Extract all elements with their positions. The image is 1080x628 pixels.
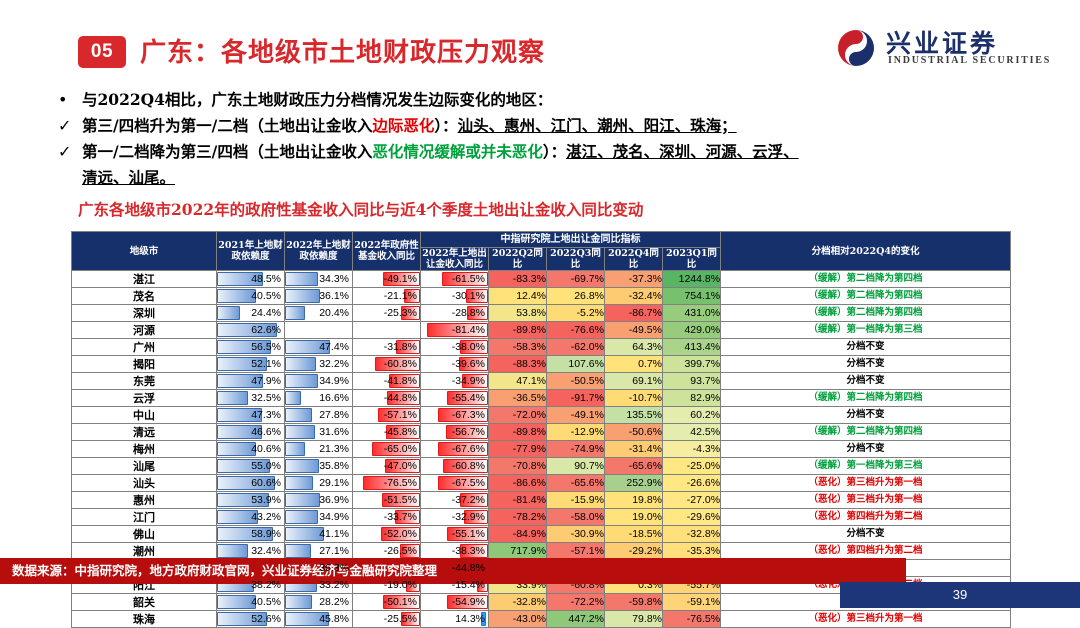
cell-q2: -81.4% [489,492,547,509]
cell-dep2021: 52.1% [217,356,285,373]
cell-q1: 431.0% [663,305,721,322]
cell-dep2021: 43.2% [217,509,285,526]
cell-dep2021: 62.6% [217,322,285,339]
industrial-securities-logo-icon [836,28,876,68]
table-row: 清远46.6%31.6%-45.8%-56.7%-89.8%-12.9%-50.… [72,424,1011,441]
cell-dep2021: 47.3% [217,407,285,424]
cell-city: 汕尾 [72,458,217,475]
cell-q2: -78.2% [489,509,547,526]
cell-q3: -30.9% [547,526,605,543]
cell-city: 珠海 [72,611,217,628]
cell-value: -57.1% [353,407,420,423]
cell-city: 揭阳 [72,356,217,373]
table-row: 江门43.2%34.9%-33.7%-32.9%-78.2%-58.0%19.0… [72,509,1011,526]
cell-value: 60.6% [217,475,284,491]
cell-value: -25.5% [353,611,420,627]
cell-value: -67.5% [421,475,488,491]
page-number: 39 [840,582,1080,608]
cell-q1: 1244.8% [663,271,721,288]
cell-q2: -43.0% [489,611,547,628]
cell-value: 32.2% [285,356,352,372]
cell-dep2021: 47.9% [217,373,285,390]
cell-city: 云浮 [72,390,217,407]
slide-header: 05 广东：各地级市土地财政压力观察 兴业证券 INDUSTRIAL SECUR… [0,0,1080,88]
cell-land2022: -55.1% [421,526,489,543]
cell-q3: -65.6% [547,475,605,492]
table-row: 茂名40.5%36.1%-21.1%-30.1%12.4%26.8%-32.4%… [72,288,1011,305]
cell-dep2022 [285,322,353,339]
cell-value: -37.2% [421,492,488,508]
cell-fund2022: -31.8% [353,339,421,356]
bullet-list: •与2022Q4相比，广东土地财政压力分档情况发生边际变化的地区：✓第三/四档升… [58,88,1058,192]
cell-q2: -88.3% [489,356,547,373]
cell-q3: 447.2% [547,611,605,628]
cell-value: 52.6% [217,611,284,627]
check-icon: ✓ [58,140,82,164]
cell-fund2022: -21.1% [353,288,421,305]
cell-q3: -50.5% [547,373,605,390]
page-title: 广东：各地级市土地财政压力观察 [140,32,545,69]
col-header-q1: 2023Q1同比 [663,248,721,271]
cell-value: -39.6% [421,356,488,372]
cell-value: -41.8% [353,373,420,389]
cell-value: -32.9% [421,509,488,525]
cell-q3: -91.7% [547,390,605,407]
cell-value: 40.5% [217,288,284,304]
cell-dep2021: 60.6% [217,475,285,492]
cell-dep2022: 34.9% [285,373,353,390]
cell-dep2022: 20.4% [285,305,353,322]
cell-land2022: -30.1% [421,288,489,305]
col-header-fund2022: 2022年政府性基金收入同比 [353,232,421,271]
cell-rank-change: （缓解）第二档降为第四档 [721,288,1011,305]
cell-q4: 19.8% [605,492,663,509]
cell-q3: -58.0% [547,509,605,526]
cell-value: -25.3% [353,305,420,321]
cell-value: -49.1% [353,271,420,287]
cell-dep2021: 56.5% [217,339,285,356]
cell-city: 清远 [72,424,217,441]
cell-dep2022: 16.6% [285,390,353,407]
cell-dep2021: 40.5% [217,288,285,305]
table-row: 广州56.5%47.4%-31.8%-38.0%-58.3%-62.0%64.3… [72,339,1011,356]
cell-dep2022: 33.2% [285,577,353,594]
cell-land2022: -55.4% [421,390,489,407]
cell-fund2022: -51.5% [353,492,421,509]
cell-value: -55.1% [421,526,488,542]
cell-value: -67.6% [421,441,488,457]
table-row: 佛山58.9%41.1%-52.0%-55.1%-84.9%-30.9%-18.… [72,526,1011,543]
cell-fund2022: -19.0% [353,577,421,594]
cell-value: -30.1% [421,288,488,304]
cell-city: 佛山 [72,526,217,543]
bullet-text: 与2022Q4相比，广东土地财政压力分档情况发生边际变化的地区： [82,88,552,112]
table-row: 汕头60.6%29.1%-76.5%-67.5%-86.6%-65.6%252.… [72,475,1011,492]
cell-value: -55.4% [421,390,488,406]
cell-q4: -50.6% [605,424,663,441]
cell-dep2021: 48.5% [217,271,285,288]
cell-value: 43.2% [217,509,284,525]
cell-value: -15.4% [421,577,488,593]
cell-rank-change: （恶化）第三档升为第一档 [721,475,1011,492]
cell-city: 中山 [72,407,217,424]
cell-value: 58.9% [217,526,284,542]
cell-value: 52.1% [217,356,284,372]
cell-fund2022: -57.1% [353,407,421,424]
cell-q4: -31.4% [605,441,663,458]
cell-q2: -77.9% [489,441,547,458]
cell-land2022: -67.3% [421,407,489,424]
cell-value: 33.2% [285,577,352,593]
cell-value: 46.6% [217,424,284,440]
cell-q2: -72.0% [489,407,547,424]
cell-land2022: -44.8% [421,560,489,577]
cell-dep2021: 38.2% [217,577,285,594]
cell-q3: -12.9% [547,424,605,441]
cell-rank-change: （缓解）第一档降为第三档 [721,322,1011,339]
cell-land2022: -15.4% [421,577,489,594]
cell-fund2022: -33.7% [353,509,421,526]
cell-rank-change: 分档不变 [721,441,1011,458]
cell-q4: 69.1% [605,373,663,390]
cell-q1: 429.0% [663,322,721,339]
cell-q3: -74.9% [547,441,605,458]
logo-english-text: INDUSTRIAL SECURITIES [888,55,1051,66]
cell-value: -56.7% [421,424,488,440]
cell-rank-change: 分档不变 [721,339,1011,356]
cell-rank-change: （缓解）第一档降为第三档 [721,458,1011,475]
cell-q1: 42.5% [663,424,721,441]
col-header-city: 地级市 [72,232,217,271]
cell-value: 27.1% [285,543,352,559]
cell-value: 45.8% [285,611,352,627]
check-icon: ✓ [58,114,82,138]
cell-land2022: -38.0% [421,339,489,356]
cell-land2022: -81.4% [421,322,489,339]
cell-q3: -76.6% [547,322,605,339]
cell-dep2021: 53.9% [217,492,285,509]
cell-dep2022: 21.3% [285,441,353,458]
cell-land2022: -56.7% [421,424,489,441]
cell-city: 东莞 [72,373,217,390]
cell-value: -34.9% [421,373,488,389]
cell-value: 32.5% [217,390,284,406]
cell-city: 广州 [72,339,217,356]
cell-value: 47.3% [217,407,284,423]
bullet-line: •与2022Q4相比，广东土地财政压力分档情况发生边际变化的地区： [58,88,1058,112]
cell-value: -19.0% [353,577,420,593]
cell-q4: 79.8% [605,611,663,628]
cell-land2022: -67.6% [421,441,489,458]
cell-q1: -27.0% [663,492,721,509]
cell-value: 53.9% [217,492,284,508]
cell-fund2022: -76.5% [353,475,421,492]
cell-dep2021: 40.6% [217,441,285,458]
cell-value: 24.4% [217,305,284,321]
cell-q4: -86.7% [605,305,663,322]
cell-fund2022: -26.5% [353,543,421,560]
cell-fund2022: -52.0% [353,526,421,543]
cell-q2: -86.6% [489,475,547,492]
col-header-group-zhizhi: 中指研究院上地出让金同比指标 [421,232,721,248]
bullet-text: 第三/四档升为第一/二档（土地出让金收入边际恶化）：汕头、惠州、江门、潮州、阳江… [82,114,737,138]
cell-value: -38.3% [421,543,488,559]
cell-rank-change: （缓解）第二档降为第四档 [721,424,1011,441]
cell-q2: 53.8% [489,305,547,322]
cell-dep2022: 27.8% [285,407,353,424]
cell-value: 62.6% [217,322,284,338]
bullet-text: 清远、汕尾。 [82,166,175,190]
cell-value: -61.5% [421,271,488,287]
cell-fund2022: -41.8% [353,373,421,390]
cell-value: 56.5% [217,339,284,355]
cell-q2: -89.8% [489,424,547,441]
cell-value: 29.1% [285,475,352,491]
cell-q2: -84.9% [489,526,547,543]
cell-value: 41.1% [285,526,352,542]
cell-dep2021: 32.4% [217,543,285,560]
cell-value: -44.8% [353,390,420,406]
cell-city: 江门 [72,509,217,526]
cell-value: -52.0% [353,526,420,542]
cell-city: 汕头 [72,475,217,492]
cell-q3: -49.1% [547,407,605,424]
cell-dep2022: 32.2% [285,356,353,373]
cell-q3: -15.9% [547,492,605,509]
col-header-change: 分档相对2022Q4的变化 [721,232,1011,271]
cell-land2022: -32.9% [421,509,489,526]
cell-q4: -49.5% [605,322,663,339]
cell-rank-change: 分档不变 [721,373,1011,390]
cell-dep2021: 24.4% [217,305,285,322]
table-row: 云浮32.5%16.6%-44.8%-55.4%-36.5%-91.7%-10.… [72,390,1011,407]
cell-dep2022: 35.8% [285,458,353,475]
cell-dep2021: 32.5% [217,390,285,407]
bullet-line: 清远、汕尾。 [58,166,1058,190]
cell-city: 湛江 [72,271,217,288]
cell-city: 潮州 [72,543,217,560]
cell-q4: -18.5% [605,526,663,543]
cell-q4: -10.7% [605,390,663,407]
cell-q4: 64.3% [605,339,663,356]
cell-value: 48.5% [217,271,284,287]
cell-q3: -62.0% [547,339,605,356]
cell-value: 20.4% [285,305,352,321]
cell-q2: -89.8% [489,322,547,339]
cell-value: -26.5% [353,543,420,559]
chart-title: 广东各地级市2022年的政府性基金收入同比与近4个季度土地出让金收入同比变动 [78,198,643,220]
table-header-row-top: 地级市 2021年上地财政依赖度 2022年上地财政依赖度 2022年政府性基金… [72,232,1011,248]
cell-city: 茂名 [72,288,217,305]
col-header-dep2021: 2021年上地财政依赖度 [217,232,285,271]
cell-q4: 135.5% [605,407,663,424]
cell-fund2022: -60.8% [353,356,421,373]
cell-value: -31.8% [353,339,420,355]
cell-land2022: -60.8% [421,458,489,475]
table-row: 惠州53.9%36.9%-51.5%-37.2%-81.4%-15.9%19.8… [72,492,1011,509]
table-row: 东莞47.9%34.9%-41.8%-34.9%47.1%-50.5%69.1%… [72,373,1011,390]
cell-fund2022: -25.5% [353,611,421,628]
cell-q4: -29.2% [605,543,663,560]
cell-q1: -26.6% [663,475,721,492]
cell-fund2022: -49.1% [353,271,421,288]
cell-value: 36.9% [285,492,352,508]
cell-q1: 399.7% [663,356,721,373]
cell-dep2021: 58.9% [217,526,285,543]
cell-value: 36.3% [285,560,352,576]
table-row: 深圳24.4%20.4%-25.3%-28.8%53.8%-5.2%-86.7%… [72,305,1011,322]
cell-rank-change: （缓解）第二档降为第四档 [721,271,1011,288]
cell-q1: -4.3% [663,441,721,458]
cell-value: -38.0% [421,339,488,355]
col-header-q3: 2022Q3同比 [547,248,605,271]
table-row: 河源62.6%-81.4%-89.8%-76.6%-49.5%429.0%（缓解… [72,322,1011,339]
cell-value: -28.8% [421,305,488,321]
cell-q1: -35.3% [663,543,721,560]
cell-city: 深圳 [72,305,217,322]
cell-q1: 754.1% [663,288,721,305]
cell-land2022: -28.8% [421,305,489,322]
col-header-dep2022: 2022年上地财政依赖度 [285,232,353,271]
cell-value: 55.0% [217,458,284,474]
col-header-q2: 2022Q2同比 [489,248,547,271]
cell-value: 14.3% [421,611,488,627]
cell-value: -65.0% [353,441,420,457]
cell-value: 34.3% [285,271,352,287]
bullet-line: ✓第一/二档降为第三/四档（土地出让金收入恶化情况缓解或并未恶化）：湛江、茂名、… [58,140,1058,164]
cell-city: 惠州 [72,492,217,509]
cell-dep2022: 41.1% [285,526,353,543]
cell-dep2022: 45.8% [285,611,353,628]
cell-rank-change: （恶化）第三档升为第一档 [721,611,1011,628]
cell-fund2022: -25.3% [353,305,421,322]
bullet-line: ✓第三/四档升为第一/二档（土地出让金收入边际恶化）：汕头、惠州、江门、潮州、阳… [58,114,1058,138]
col-header-land2022: 2022年上地出让金收入同比 [421,248,489,271]
table-header: 地级市 2021年上地财政依赖度 2022年上地财政依赖度 2022年政府性基金… [72,232,1011,271]
cell-fund2022: -47.0% [353,458,421,475]
cell-rank-change: （恶化）第三档升为第一档 [721,492,1011,509]
cell-q1: 93.7% [663,373,721,390]
cell-value: 38.2% [217,577,284,593]
cell-q3: 90.7% [547,458,605,475]
cell-q4: 252.9% [605,475,663,492]
cell-q1: 413.4% [663,339,721,356]
table-row: 中山47.3%27.8%-57.1%-67.3%-72.0%-49.1%135.… [72,407,1011,424]
cell-rank-change: （恶化）第四档升为第二档 [721,509,1011,526]
cell-land2022: -38.3% [421,543,489,560]
cell-dep2021: 46.6% [217,424,285,441]
cell-rank-change: 分档不变 [721,407,1011,424]
cell-value: -67.3% [421,407,488,423]
cell-q4: 19.0% [605,509,663,526]
cell-dep2022: 31.6% [285,424,353,441]
cell-value: -76.5% [353,475,420,491]
cell-fund2022: -45.8% [353,424,421,441]
company-logo: 兴业证券 INDUSTRIAL SECURITIES [836,26,1052,72]
bullet-text: 第一/二档降为第三/四档（土地出让金收入恶化情况缓解或并未恶化）：湛江、茂名、深… [82,140,799,164]
cell-value: 27.8% [285,407,352,423]
cell-value: 21.3% [285,441,352,457]
cell-value: 40.6% [217,441,284,457]
cell-dep2022: 27.1% [285,543,353,560]
cell-value: 32.4% [217,543,284,559]
cell-land2022: -37.2% [421,492,489,509]
cell-land2022: -39.6% [421,356,489,373]
cell-fund2022: -44.8% [353,390,421,407]
cell-dep2021: 55.0% [217,458,285,475]
cell-q4: -32.4% [605,288,663,305]
cell-value: -47.0% [353,458,420,474]
cell-value: -60.8% [353,356,420,372]
cell-q4: -65.6% [605,458,663,475]
cell-value: -60.8% [421,458,488,474]
cell-value: 47.9% [217,373,284,389]
cell-value: 34.9% [285,373,352,389]
bullet-dot-icon: • [58,88,82,112]
cell-q3: -69.7% [547,271,605,288]
cell-q3: 26.8% [547,288,605,305]
cell-dep2022: 36.1% [285,288,353,305]
cell-value: -51.5% [353,492,420,508]
cell-value: 47.4% [285,339,352,355]
cell-value: 34.9% [285,509,352,525]
cell-land2022: -67.5% [421,475,489,492]
cell-q1: -76.5% [663,611,721,628]
cell-value: -33.7% [353,509,420,525]
cell-q2: -58.3% [489,339,547,356]
cell-q2: -83.3% [489,271,547,288]
cell-land2022: 14.3% [421,611,489,628]
cell-value: -44.8% [421,560,488,576]
cell-dep2022: 29.1% [285,475,353,492]
cell-q2: -70.8% [489,458,547,475]
cell-q1: 60.2% [663,407,721,424]
cell-rank-change: （缓解）第二档降为第四档 [721,305,1011,322]
table-row: 湛江48.5%34.3%-49.1%-61.5%-83.3%-69.7%-37.… [72,271,1011,288]
cell-dep2022: 34.9% [285,509,353,526]
cell-q2: 717.9% [489,543,547,560]
cell-value: 35.8% [285,458,352,474]
cell-fund2022 [353,322,421,339]
cell-dep2022: 36.9% [285,492,353,509]
cell-dep2022: 34.3% [285,271,353,288]
cell-q4: 0.7% [605,356,663,373]
cell-value: -21.1% [353,288,420,304]
cell-dep2022: 36.3% [285,560,353,577]
cell-q1: -29.6% [663,509,721,526]
cell-value: 36.1% [285,288,352,304]
table-row: 潮州32.4%27.1%-26.5%-38.3%717.9%-57.1%-29.… [72,543,1011,560]
col-header-q4: 2022Q4同比 [605,248,663,271]
table-row: 梅州40.6%21.3%-65.0%-67.6%-77.9%-74.9%-31.… [72,441,1011,458]
cell-rank-change: 分档不变 [721,356,1011,373]
cell-city: 河源 [72,322,217,339]
cell-q2: 12.4% [489,288,547,305]
cell-rank-change: （恶化）第四档升为第二档 [721,543,1011,560]
cell-rank-change: （缓解）第二档降为第四档 [721,390,1011,407]
cell-value: 31.6% [285,424,352,440]
table-row: 揭阳52.1%32.2%-60.8%-39.6%-88.3%107.6%0.7%… [72,356,1011,373]
cell-q2: -36.5% [489,390,547,407]
cell-value: -45.8% [353,424,420,440]
cell-dep2022: 47.4% [285,339,353,356]
cell-rank-change: 分档不变 [721,526,1011,543]
cell-land2022: -34.9% [421,373,489,390]
cell-q1: -25.0% [663,458,721,475]
cell-value: 16.6% [285,390,352,406]
cell-city: 梅州 [72,441,217,458]
cell-q3: -5.2% [547,305,605,322]
